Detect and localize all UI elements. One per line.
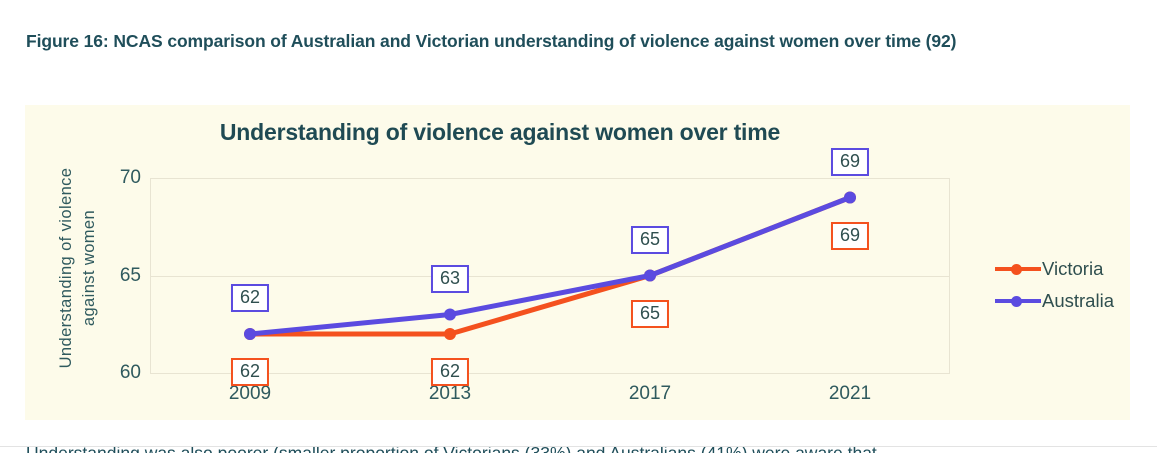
data-label-australia: 62: [231, 284, 269, 312]
data-point-victoria: [444, 328, 456, 340]
data-label-australia: 63: [431, 265, 469, 293]
data-point-australia: [644, 270, 656, 282]
chart-legend: VictoriaAustralia: [995, 253, 1114, 317]
legend-item-australia[interactable]: Australia: [995, 285, 1114, 317]
y-tick-label: 60: [120, 362, 141, 384]
legend-marker-icon: [995, 292, 1041, 310]
chart-panel: Understanding of violence against women …: [25, 105, 1130, 420]
data-label-australia: 65: [631, 226, 669, 254]
legend-label: Victoria: [1042, 258, 1103, 280]
series-line-victoria: [250, 198, 850, 335]
y-tick-label: 65: [120, 265, 141, 287]
data-point-australia: [844, 192, 856, 204]
x-tick-label: 2021: [829, 383, 871, 405]
bottom-rule: [0, 446, 1157, 447]
series-lines: [150, 178, 950, 373]
x-tick-label: 2017: [629, 383, 671, 405]
figure-caption: Figure 16: NCAS comparison of Australian…: [26, 28, 1106, 55]
legend-item-victoria[interactable]: Victoria: [995, 253, 1114, 285]
plot-area: 606570 2009201320172021 6262656962636569: [150, 178, 950, 373]
data-label-victoria: 62: [431, 358, 469, 386]
series-line-australia: [250, 198, 850, 335]
data-point-australia: [444, 309, 456, 321]
y-tick-label: 70: [120, 167, 141, 189]
y-axis-label: Understanding of violence against women: [55, 158, 101, 378]
data-point-australia: [244, 328, 256, 340]
x-tick-label: 2013: [429, 383, 471, 405]
data-label-victoria: 65: [631, 300, 669, 328]
gridline: [150, 373, 950, 374]
x-tick-label: 2009: [229, 383, 271, 405]
data-label-australia: 69: [831, 148, 869, 176]
legend-label: Australia: [1042, 290, 1114, 312]
legend-marker-icon: [995, 260, 1041, 278]
data-label-victoria: 69: [831, 222, 869, 250]
data-label-victoria: 62: [231, 358, 269, 386]
chart-title: Understanding of violence against women …: [25, 119, 975, 146]
